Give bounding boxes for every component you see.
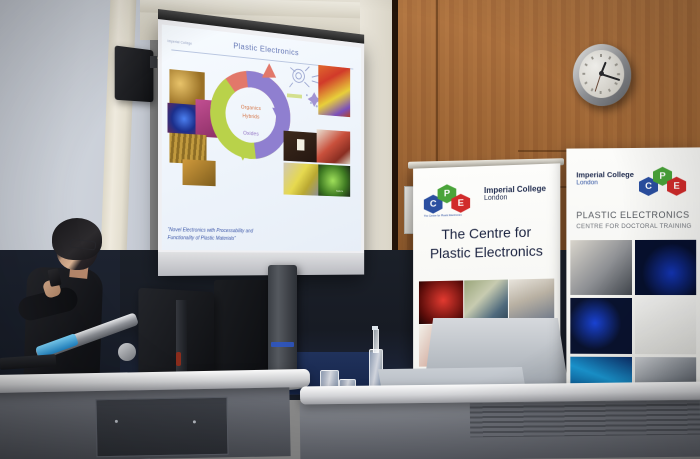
slide-thumb-amber-device [183, 159, 216, 186]
cdt-banner-title: PLASTIC ELECTRONICS [576, 210, 689, 220]
clock-tick [608, 88, 611, 92]
clock-tick [584, 81, 587, 84]
monitor-arm-joint[interactable] [118, 343, 136, 361]
clock-tick [591, 56, 594, 60]
clock-tick [584, 64, 587, 67]
microphone-status-band [271, 342, 294, 347]
cdt-institution: Imperial College London [576, 170, 634, 187]
cdt-banner: Imperial College London C P E PLASTIC EL… [566, 147, 700, 416]
clock-tick [614, 63, 618, 66]
bottle-cap [372, 326, 378, 330]
clock-tick [600, 91, 601, 94]
slide-thumb-yellow-flex [284, 163, 319, 196]
cpe-logo-icon: C P E The Centre for Plastic Electronics [423, 182, 478, 218]
clock-tick [614, 82, 618, 85]
collage-photo-lab-equipment [464, 280, 508, 323]
cdt-photo-blue-network [570, 298, 631, 353]
cdt-photo-lab-bench [570, 240, 631, 295]
lectern-front-panel [95, 397, 228, 458]
monitor-power-led [176, 352, 181, 366]
ceiling-speaker-icon [115, 45, 154, 102]
clock-tick [591, 88, 594, 92]
cpe-banner-title: The Centre for Plastic Electronics [413, 222, 560, 264]
presentation-slide: Imperial College Plastic Electronics Org… [162, 24, 361, 251]
clock-center-pin [599, 71, 604, 76]
slide-thumb-colorful-device [318, 65, 350, 117]
slide-image-credit: Nature [336, 189, 343, 193]
cycle-diagram: Organics Hybrids Oxides [210, 67, 290, 161]
monitor-side-bezel [176, 300, 187, 378]
clock-tick [608, 56, 611, 60]
cdt-banner-subtitle: CENTRE FOR DOCTORAL TRAINING [576, 223, 691, 230]
bottle-neck [373, 329, 379, 353]
lecture-hall-scene: Imperial College Plastic Electronics Org… [0, 0, 700, 459]
cdt-photo-spectrum [634, 240, 696, 296]
clock-tick [600, 54, 601, 57]
cdt-photo-sample-row [634, 298, 696, 354]
cpe-institution: Imperial College London [484, 184, 546, 203]
cpe-institution-line2: London [484, 193, 546, 203]
slide-thumb-red-flex [317, 129, 351, 164]
cpe-title-line2: Plastic Electronics [413, 241, 560, 264]
collage-photo-researcher [509, 279, 554, 323]
cdt-institution-line1: Imperial College [576, 170, 634, 179]
clock-tick [617, 73, 620, 75]
screen-bottom-bar [158, 252, 364, 276]
slide-thumb-pixel-dot [297, 139, 304, 151]
slide-thumb-green-glow [318, 164, 350, 196]
clock-tick [582, 73, 585, 75]
projection-screen: Imperial College Plastic Electronics Org… [158, 18, 364, 276]
cdt-logo-icon: C P E [638, 166, 694, 196]
desk-vent-grille [470, 401, 700, 438]
collage-photo-red-glow [419, 280, 463, 323]
cpe-logo-subtext: The Centre for Plastic Electronics [424, 214, 462, 218]
cdt-institution-line2: London [576, 179, 634, 187]
cpe-banner-header: C P E The Centre for Plastic Electronics… [421, 178, 552, 220]
slide-quote: “Novel Electronics with Processability a… [168, 227, 276, 243]
